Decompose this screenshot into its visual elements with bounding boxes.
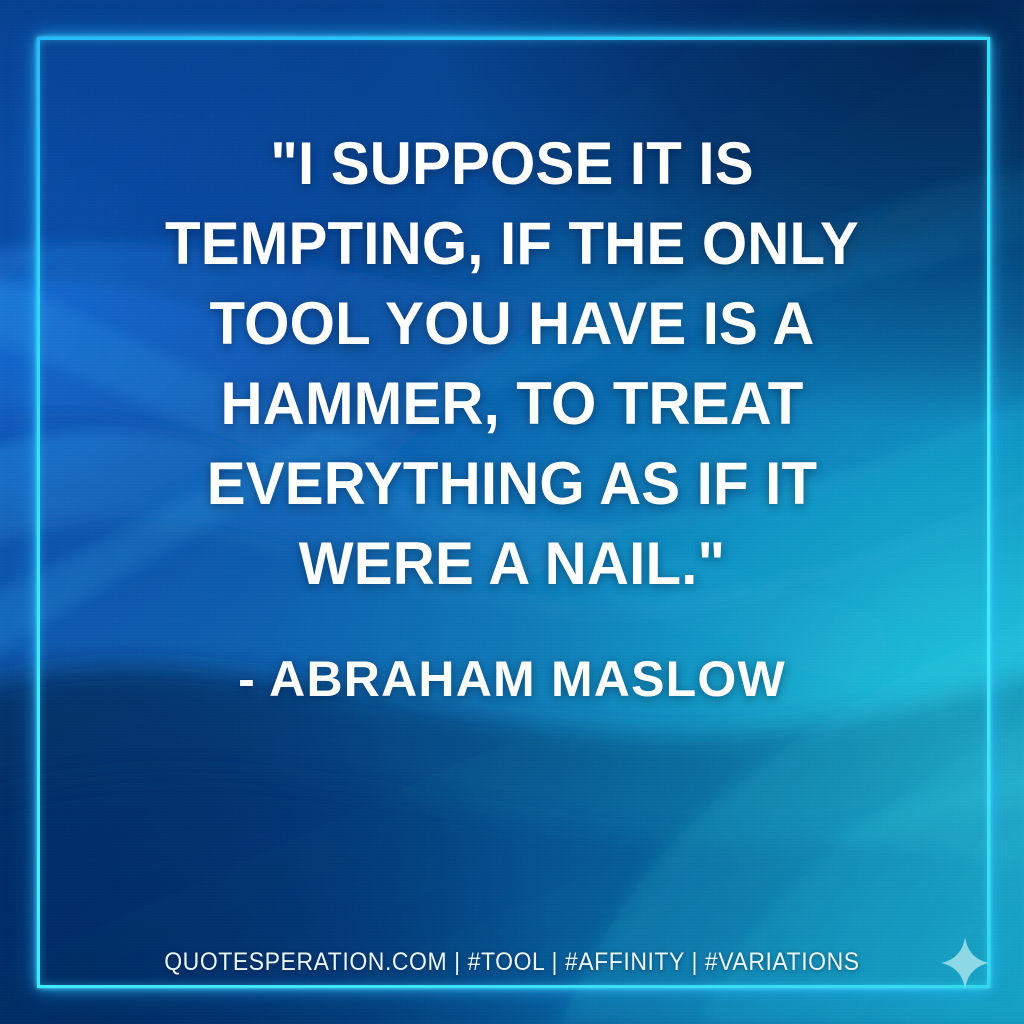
quote-line-6: WERE A NAIL." <box>91 524 933 604</box>
quote-line-5: EVERYTHING AS IF IT <box>91 444 933 524</box>
quote-attribution: - ABRAHAM MASLOW <box>0 648 1024 710</box>
quote-text: "I SUPPOSE IT IS TEMPTING, IF THE ONLY T… <box>0 124 1024 604</box>
quote-line-2: TEMPTING, IF THE ONLY <box>91 204 933 284</box>
quote-line-4: HAMMER, TO TREAT <box>91 364 933 444</box>
quote-line-1: "I SUPPOSE IT IS <box>91 124 933 204</box>
quote-line-3: TOOL YOU HAVE IS A <box>91 284 933 364</box>
footer-credit-text: QUOTESPERATION.COM | #TOOL | #AFFINITY |… <box>164 948 859 977</box>
quote-card: "I SUPPOSE IT IS TEMPTING, IF THE ONLY T… <box>0 0 1024 1024</box>
footer-bar: QUOTESPERATION.COM | #TOOL | #AFFINITY |… <box>0 942 1024 982</box>
